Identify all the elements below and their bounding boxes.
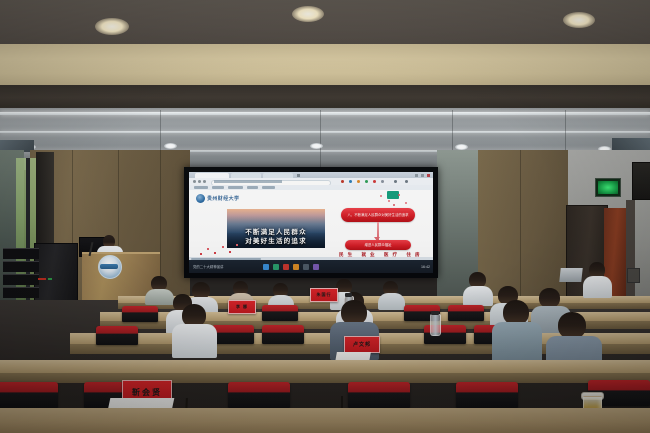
attendee-torso (378, 293, 405, 310)
attendee-head (558, 312, 586, 339)
attendee-torso (492, 322, 542, 362)
red-black-chair[interactable] (262, 305, 298, 321)
university-logo-icon (196, 194, 205, 203)
water-bottle[interactable] (430, 314, 441, 336)
taskbar-clock[interactable]: 16:42 (421, 264, 430, 270)
window-mullion (26, 158, 30, 308)
ceiling-beam (0, 44, 650, 86)
bookmark-item[interactable] (262, 186, 275, 189)
recessed-downlight (563, 12, 595, 28)
ceiling-recess-shadow (0, 85, 650, 110)
attendee-head (539, 288, 560, 308)
nameplate: 朱国行 (310, 288, 338, 302)
laptop[interactable] (559, 268, 582, 282)
wall-panel-seam (520, 150, 521, 310)
window-close-icon[interactable] (427, 174, 430, 177)
recessed-downlight (310, 143, 323, 149)
address-bar-text (214, 180, 324, 183)
red-black-chair[interactable] (448, 305, 484, 321)
slide-callout-primary: 八、不断满足人民群众对美好生活的追求 (341, 208, 415, 222)
taskbar-icon[interactable] (313, 264, 319, 270)
recessed-downlight (95, 18, 129, 35)
attendee-torso (583, 276, 612, 298)
red-black-chair[interactable] (262, 325, 304, 344)
plum-blossom-decoration (197, 240, 241, 258)
recessed-downlight (164, 143, 177, 149)
foreground-desk-surface (0, 408, 650, 433)
led-video-wall[interactable]: 贵州财经大学 不断满足人民群众 对美好生活的追求 八、不断满足人民群众对美好生活… (189, 172, 433, 273)
exit-running-man-icon (598, 181, 618, 194)
bookmark-item[interactable] (228, 186, 243, 189)
red-black-chair[interactable] (348, 382, 410, 408)
browser-tab[interactable] (195, 173, 229, 178)
nameplate: 卢文邦 (344, 336, 380, 353)
linear-led-strip (0, 112, 650, 115)
browser-window[interactable]: 贵州财经大学 不断满足人民群众 对美好生活的追求 八、不断满足人民群众对美好生活… (189, 172, 433, 273)
slide-callout-secondary: 增进人民群众福祉 (345, 240, 411, 250)
rack-unit (3, 287, 39, 298)
ceiling-panel-seam (320, 110, 321, 168)
emblem-band (100, 264, 118, 269)
attendee-torso (463, 286, 493, 306)
bookmark-item[interactable] (194, 186, 208, 189)
nameplate: 李 娜 (228, 300, 256, 314)
presentation-slide: 贵州财经大学 不断满足人民群众 对美好生活的追求 八、不断满足人民群众对美好生活… (189, 190, 433, 260)
taskbar-icon[interactable] (273, 264, 279, 270)
linear-led-strip (0, 131, 650, 133)
rack-unit (3, 248, 39, 259)
window-maximize-icon[interactable] (421, 174, 424, 177)
wall-speaker (632, 162, 650, 200)
bottle-cap (431, 311, 439, 315)
attendee-torso (145, 289, 174, 305)
red-black-chair[interactable] (212, 325, 254, 344)
browser-tab[interactable] (231, 173, 261, 178)
recessed-downlight (292, 6, 324, 22)
bookmark-item[interactable] (212, 186, 224, 189)
rack-unit (3, 261, 39, 272)
decorative-petals (375, 192, 415, 206)
conference-room-photo: 贵州财经大学 不断满足人民群众 对美好生活的追求 八、不断满足人民群众对美好生活… (0, 0, 650, 433)
taskbar-icon[interactable] (283, 264, 289, 270)
windows-taskbar[interactable]: 党的二十大精神宣讲 16:42 (189, 260, 433, 273)
new-tab-icon[interactable] (297, 174, 300, 177)
window-minimize-icon[interactable] (415, 174, 418, 177)
rack-status-led (38, 278, 46, 280)
red-black-chair[interactable] (96, 326, 138, 345)
attendee-torso (172, 324, 217, 358)
browser-tab[interactable] (263, 173, 293, 178)
organization-name: 贵州财经大学 (207, 195, 239, 202)
bottle-cap (345, 293, 352, 297)
red-black-chair[interactable] (122, 306, 158, 322)
taskbar-icon[interactable] (263, 264, 269, 270)
taskbar-icon[interactable] (303, 264, 309, 270)
red-black-chair[interactable] (0, 382, 58, 408)
taskbar-icon[interactable] (293, 264, 299, 270)
rack-unit (3, 274, 39, 285)
taskbar-app-title: 党的二十大精神宣讲 (193, 264, 224, 269)
rack-status-led (48, 278, 52, 280)
wall-control-panel[interactable] (627, 268, 640, 283)
exit-sign (595, 178, 621, 197)
wall-wood-panel-right (478, 150, 570, 310)
bookmark-item[interactable] (247, 186, 258, 189)
red-black-chair[interactable] (456, 382, 518, 408)
red-black-chair[interactable] (228, 382, 290, 408)
slide-hero-image: 不断满足人民群众 对美好生活的追求 (227, 209, 325, 248)
slide-headline-line-2: 对美好生活的追求 (227, 235, 325, 245)
